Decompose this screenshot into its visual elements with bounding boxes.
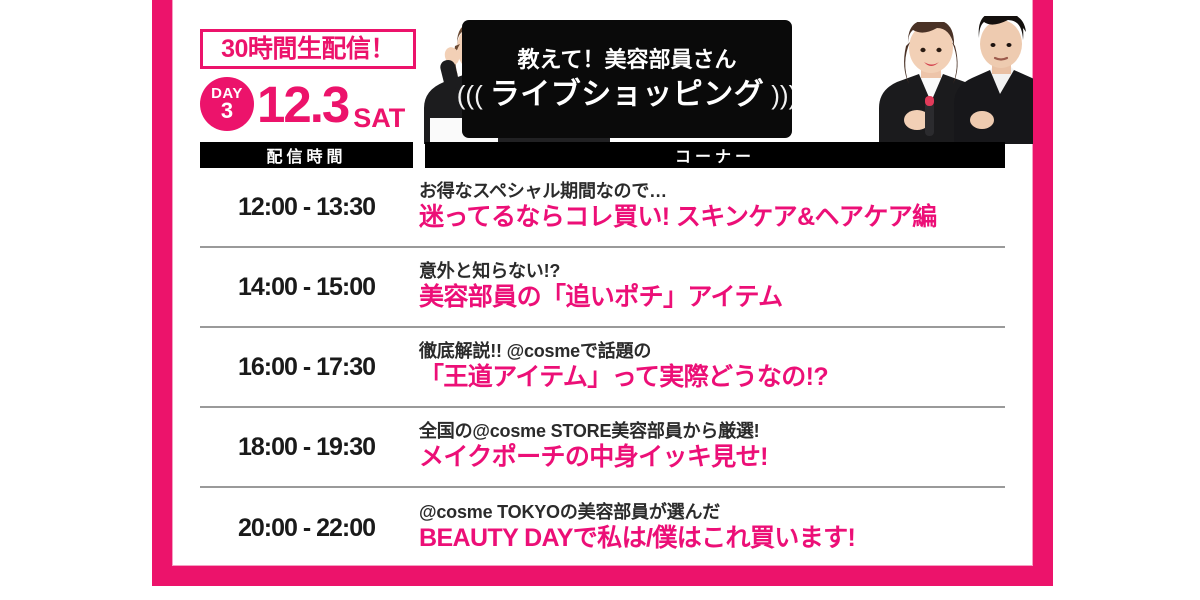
sound-wave-left-icon: ((( (457, 82, 483, 108)
row-corner-title: 迷ってるならコレ買い! スキンケア&ヘアケア編 (419, 203, 1005, 233)
row-corner-title: メイクポーチの中身イッキ見せ! (419, 443, 1005, 473)
poster-content: 30時間生配信！ DAY 3 12.3 SAT 教えて！美容部員さん ((( ラ… (172, 0, 1033, 566)
day-number-badge: DAY 3 (200, 77, 254, 131)
day-number: 3 (221, 100, 233, 122)
row-corner-title: BEAUTY DAYで私は/僕はこれ買います! (419, 524, 1005, 554)
row-time: 18:00 - 19:30 (200, 433, 413, 462)
row-corner: 全国の@cosme STORE美容部員から厳選! メイクポーチの中身イッキ見せ! (413, 421, 1005, 473)
row-corner-subtitle: 徹底解説!! @cosmeで話題の (419, 341, 1005, 362)
program-title-box: 教えて！美容部員さん ((( ライブショッピング ))) (462, 20, 792, 138)
column-header-time: 配信時間 (200, 142, 413, 168)
duration-badge: 30時間生配信！ (200, 29, 416, 69)
broadcast-date-line: DAY 3 12.3 SAT (200, 74, 405, 134)
row-corner-subtitle: 意外と知らない!? (419, 261, 1005, 282)
row-time: 20:00 - 22:00 (200, 514, 413, 543)
row-corner: お得なスペシャル期間なので… 迷ってるならコレ買い! スキンケア&ヘアケア編 (413, 181, 1005, 233)
row-time: 16:00 - 17:30 (200, 353, 413, 382)
row-corner: @cosme TOKYOの美容部員が選んだ BEAUTY DAYで私は/僕はこれ… (413, 502, 1005, 554)
row-time: 14:00 - 15:00 (200, 273, 413, 302)
livestream-schedule-poster: 30時間生配信！ DAY 3 12.3 SAT 教えて！美容部員さん ((( ラ… (0, 0, 1200, 600)
row-corner-title: 「王道アイテム」って実際どうなの!? (419, 363, 1005, 393)
row-time: 12:00 - 13:30 (200, 193, 413, 222)
row-corner-subtitle: @cosme TOKYOの美容部員が選んだ (419, 502, 1005, 523)
poster-header: 30時間生配信！ DAY 3 12.3 SAT 教えて！美容部員さん ((( ラ… (172, 0, 1033, 140)
row-corner-subtitle: お得なスペシャル期間なので… (419, 181, 1005, 202)
sound-wave-right-icon: ))) (771, 82, 797, 108)
row-corner-subtitle: 全国の@cosme STORE美容部員から厳選! (419, 421, 1005, 442)
schedule-table-header: 配信時間 コーナー (172, 142, 1033, 168)
presenter-photo-4 (952, 16, 1033, 144)
table-row: 16:00 - 17:30 徹底解説!! @cosmeで話題の 「王道アイテム」… (200, 328, 1005, 408)
row-corner: 徹底解説!! @cosmeで話題の 「王道アイテム」って実際どうなの!? (413, 341, 1005, 393)
broadcast-day-of-week: SAT (353, 105, 405, 132)
row-corner-title: 美容部員の「追いポチ」アイテム (419, 283, 1005, 313)
table-row: 12:00 - 13:30 お得なスペシャル期間なので… 迷ってるならコレ買い!… (200, 168, 1005, 248)
schedule-table-body: 12:00 - 13:30 お得なスペシャル期間なので… 迷ってるならコレ買い!… (172, 168, 1033, 568)
schedule-table: 配信時間 コーナー 12:00 - 13:30 お得なスペシャル期間なので… 迷… (172, 142, 1033, 568)
program-title-mainline-wrap: ((( ライブショッピング ))) (457, 80, 797, 110)
broadcast-date: 12.3 (257, 79, 348, 130)
program-title-mainline: ライブショッピング (490, 80, 765, 110)
row-corner: 意外と知らない!? 美容部員の「追いポチ」アイテム (413, 261, 1005, 313)
table-row: 14:00 - 15:00 意外と知らない!? 美容部員の「追いポチ」アイテム (200, 248, 1005, 328)
duration-badge-label: 30時間生配信！ (221, 37, 395, 62)
column-header-corner: コーナー (425, 142, 1005, 168)
program-title-subline: 教えて！美容部員さん (518, 49, 737, 71)
table-row: 18:00 - 19:30 全国の@cosme STORE美容部員から厳選! メ… (200, 408, 1005, 488)
table-row: 20:00 - 22:00 @cosme TOKYOの美容部員が選んだ BEAU… (200, 488, 1005, 568)
